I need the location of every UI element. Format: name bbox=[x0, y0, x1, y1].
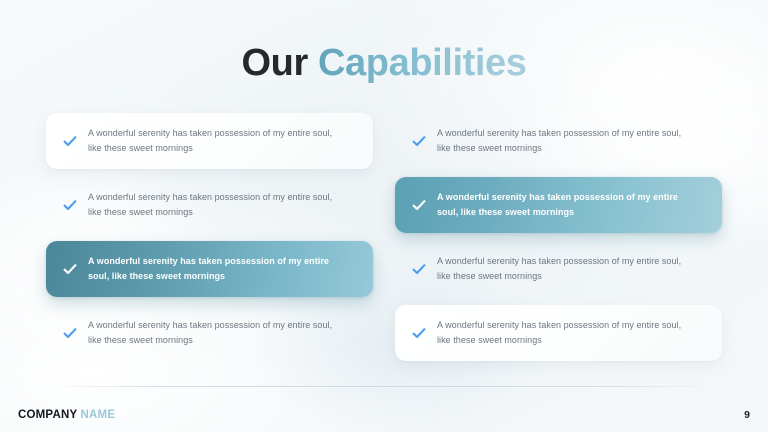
capability-item-text: A wonderful serenity has taken possessio… bbox=[437, 126, 687, 156]
capability-item[interactable]: A wonderful serenity has taken possessio… bbox=[46, 305, 373, 361]
check-icon bbox=[62, 133, 78, 149]
company-brand: COMPANY NAME bbox=[18, 409, 115, 421]
capabilities-grid: A wonderful serenity has taken possessio… bbox=[46, 113, 722, 361]
check-icon bbox=[411, 133, 427, 149]
capabilities-column-left: A wonderful serenity has taken possessio… bbox=[46, 113, 373, 361]
capability-item-text: A wonderful serenity has taken possessio… bbox=[88, 254, 338, 284]
check-icon bbox=[411, 325, 427, 341]
page-title: Our Capabilities bbox=[0, 44, 768, 82]
capability-item[interactable]: A wonderful serenity has taken possessio… bbox=[395, 241, 722, 297]
capability-item-highlighted[interactable]: A wonderful serenity has taken possessio… bbox=[395, 177, 722, 233]
company-brand-lead: COMPANY bbox=[18, 409, 77, 421]
slide-canvas: Our Capabilities A wonderful serenity ha… bbox=[0, 0, 768, 432]
company-brand-accent: NAME bbox=[81, 409, 116, 421]
capability-item[interactable]: A wonderful serenity has taken possessio… bbox=[395, 305, 722, 361]
capability-item-highlighted[interactable]: A wonderful serenity has taken possessio… bbox=[46, 241, 373, 297]
capability-item[interactable]: A wonderful serenity has taken possessio… bbox=[46, 113, 373, 169]
check-icon bbox=[62, 261, 78, 277]
page-number: 9 bbox=[744, 409, 750, 421]
page-title-accent: Capabilities bbox=[318, 42, 527, 84]
check-icon bbox=[411, 197, 427, 213]
capability-item[interactable]: A wonderful serenity has taken possessio… bbox=[395, 113, 722, 169]
capabilities-column-right: A wonderful serenity has taken possessio… bbox=[395, 113, 722, 361]
footer-divider bbox=[46, 386, 722, 387]
capability-item-text: A wonderful serenity has taken possessio… bbox=[88, 190, 338, 220]
check-icon bbox=[411, 261, 427, 277]
slide-footer: COMPANY NAME 9 bbox=[0, 398, 768, 432]
capability-item-text: A wonderful serenity has taken possessio… bbox=[88, 318, 338, 348]
capability-item-text: A wonderful serenity has taken possessio… bbox=[437, 254, 687, 284]
capability-item-text: A wonderful serenity has taken possessio… bbox=[437, 318, 687, 348]
capability-item-text: A wonderful serenity has taken possessio… bbox=[437, 190, 687, 220]
check-icon bbox=[62, 197, 78, 213]
capability-item[interactable]: A wonderful serenity has taken possessio… bbox=[46, 177, 373, 233]
page-title-lead: Our bbox=[241, 42, 307, 84]
capability-item-text: A wonderful serenity has taken possessio… bbox=[88, 126, 338, 156]
check-icon bbox=[62, 325, 78, 341]
